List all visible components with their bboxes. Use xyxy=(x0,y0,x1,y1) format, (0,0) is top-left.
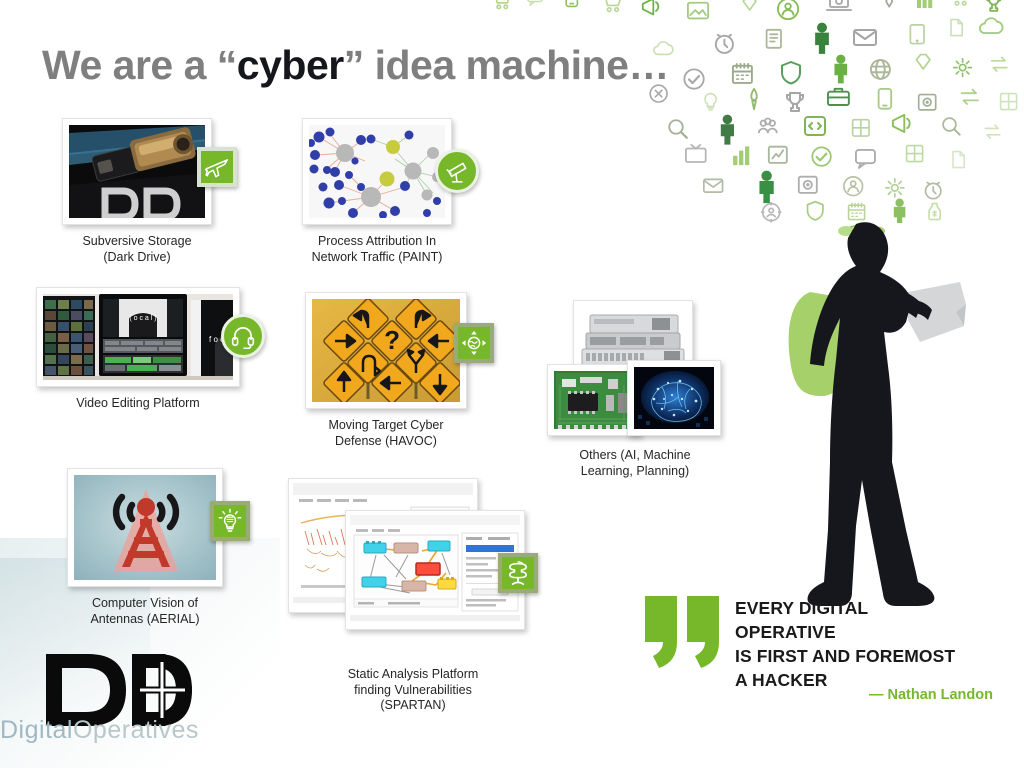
project-card-others[interactable]: Others (AI, Machine Learning, Planning) xyxy=(547,300,723,479)
globe-move-icon-badge[interactable] xyxy=(454,323,494,363)
thumbnail-frame: ( o c a l ) xyxy=(36,287,240,387)
thumbnail-frame xyxy=(62,118,212,225)
telescope-icon xyxy=(444,158,470,184)
thumbnail-collage xyxy=(288,478,538,653)
project-caption: Computer Vision of Antennas (AERIAL) xyxy=(67,596,223,627)
project-card-subversive-storage[interactable]: Subversive Storage (Dark Drive) xyxy=(62,118,212,265)
caption-line-1: Process Attribution In xyxy=(302,234,452,250)
caption-line-1: Moving Target Cyber xyxy=(305,418,467,434)
page-title: We are a “cyber” idea machine… xyxy=(42,44,669,87)
project-caption: Subversive Storage (Dark Drive) xyxy=(62,234,212,265)
project-caption: Video Editing Platform xyxy=(36,396,240,412)
quote-mark-icon xyxy=(641,588,727,674)
thumbnail-analysis-window-front xyxy=(350,515,520,625)
caption-line-1: Subversive Storage xyxy=(62,234,212,250)
quote-line-3: IS FIRST AND FOREMOST xyxy=(735,644,1015,668)
headphones-icon xyxy=(230,323,256,349)
quote-line-2: OPERATIVE xyxy=(735,620,1015,644)
caption-line-2: finding Vulnerabilities xyxy=(288,683,538,699)
globe-move-icon xyxy=(461,330,487,356)
quote-text: EVERY DIGITAL OPERATIVE IS FIRST AND FOR… xyxy=(735,596,1015,692)
thumbnail-frame: ? xyxy=(305,292,467,409)
caption-line-2: (Dark Drive) xyxy=(62,250,212,266)
quote-attribution: — Nathan Landon xyxy=(735,687,993,703)
caption-line-1: Computer Vision of xyxy=(67,596,223,612)
caption-line-1: Others (AI, Machine xyxy=(547,448,723,464)
person-silhouette-illustration xyxy=(760,200,1010,620)
title-prefix: We are a “ xyxy=(42,42,237,88)
project-caption: Moving Target Cyber Defense (HAVOC) xyxy=(305,418,467,449)
title-highlight: cyber xyxy=(237,42,344,88)
title-suffix: ” idea machine… xyxy=(344,42,669,88)
thumbnail-collage xyxy=(547,300,723,440)
thumbnail-ai-brain xyxy=(634,367,714,429)
caption-line-2: Network Traffic (PAINT) xyxy=(302,250,452,266)
project-card-video-editing[interactable]: ( o c a l ) xyxy=(36,287,240,412)
thumbnail-network-graph xyxy=(309,125,445,218)
thumbnail-frame xyxy=(302,118,452,225)
spartan-helmet-icon xyxy=(504,559,532,587)
wordmark-second: Operatives xyxy=(73,716,199,744)
caption-line-2: Antennas (AERIAL) xyxy=(67,612,223,628)
project-card-aerial[interactable]: Computer Vision of Antennas (AERIAL) xyxy=(67,468,223,627)
svg-text:( o c a l ): ( o c a l ) xyxy=(129,315,156,322)
wordmark-first: Digital xyxy=(0,716,73,744)
thumbnail-frame-brain xyxy=(627,360,721,436)
slide-canvas: We are a “cyber” idea machine… xyxy=(0,0,1024,768)
telescope-icon-badge[interactable] xyxy=(435,149,479,193)
quote-line-1: EVERY DIGITAL xyxy=(735,596,1015,620)
project-caption: Process Attribution In Network Traffic (… xyxy=(302,234,452,265)
thumbnail-road-signs: ? xyxy=(312,299,460,402)
digital-operatives-wordmark: DigitalOperatives xyxy=(0,716,215,745)
thumbnail-usb-drive xyxy=(69,125,205,218)
green-technology-icon-cloud xyxy=(455,0,1024,223)
project-card-spartan[interactable]: Static Analysis Platform finding Vulnera… xyxy=(288,478,538,714)
svg-text:?: ? xyxy=(384,325,400,355)
caption-line-1: Static Analysis Platform xyxy=(288,667,538,683)
thumbnail-antenna-tower xyxy=(74,475,216,580)
lightbulb-icon xyxy=(217,508,243,534)
project-caption: Others (AI, Machine Learning, Planning) xyxy=(547,448,723,479)
caption-line-3: (SPARTAN) xyxy=(288,698,538,714)
project-card-paint[interactable]: Process Attribution In Network Traffic (… xyxy=(302,118,452,265)
caption-line-1: Video Editing Platform xyxy=(36,396,240,412)
project-caption: Static Analysis Platform finding Vulnera… xyxy=(288,667,538,714)
airplane-icon xyxy=(204,154,230,180)
headphones-icon-badge[interactable] xyxy=(221,314,265,358)
spartan-helmet-icon-badge[interactable] xyxy=(498,553,538,593)
project-card-havoc[interactable]: ? Mo xyxy=(305,292,467,449)
caption-line-2: Defense (HAVOC) xyxy=(305,434,467,450)
thumbnail-frame xyxy=(67,468,223,587)
thumbnail-circuit-board xyxy=(554,371,634,429)
lightbulb-icon-badge[interactable] xyxy=(210,501,250,541)
thumbnail-video-editing-suite: ( o c a l ) xyxy=(43,294,233,380)
caption-line-2: Learning, Planning) xyxy=(547,464,723,480)
airplane-icon-badge[interactable] xyxy=(197,147,237,187)
